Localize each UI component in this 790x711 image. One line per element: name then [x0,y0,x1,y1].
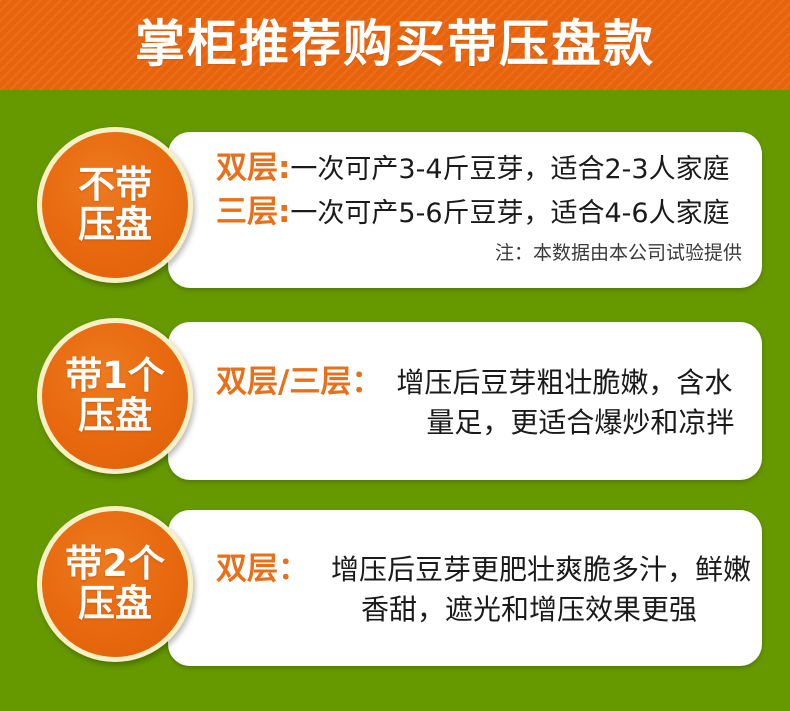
spec-row: 双层: 一次可产3-4斤豆芽，适合2-3人家庭 [216,146,742,190]
spec-text-line-2: 香甜，遮光和增压效果更强 [331,590,751,630]
spec-row: 双层/三层： 增压后豆芽粗壮脆嫩，含水 量足，更适合爆炒和凉拌 [216,360,740,443]
badge-line-2: 压盘 [78,396,152,436]
header-banner: 掌柜推荐购买带压盘款 [0,0,790,90]
page-title: 掌柜推荐购买带压盘款 [135,19,655,72]
badge-line-2: 压盘 [78,205,152,245]
spec-text-triple-layer: 一次可产5-6斤豆芽，适合4-6人家庭 [290,195,729,233]
spec-text-block: 增压后豆芽粗壮脆嫩，含水 量足，更适合爆炒和凉拌 [396,363,734,443]
card-content: 双层: 一次可产3-4斤豆芽，适合2-3人家庭 三层: 一次可产5-6斤豆芽，适… [216,132,742,288]
spec-text-line-1: 增压后豆芽粗壮脆嫩，含水 [396,363,734,403]
spec-row: 双层： 增压后豆芽更肥壮爽脆多汁，鲜嫩 香甜，遮光和增压效果更强 [216,547,740,630]
spec-text-line-2: 量足，更适合爆炒和凉拌 [396,403,734,443]
spec-text-double-layer: 一次可产3-4斤豆芽，适合2-3人家庭 [290,151,729,189]
spec-label-triple-layer: 三层: [216,190,290,234]
badge-line-2: 压盘 [78,584,152,624]
badge-one-press-plate: 带1个 压盘 [37,318,193,474]
badge-line-1: 不带 [78,165,152,205]
spec-text-block: 增压后豆芽更肥壮爽脆多汁，鲜嫩 香甜，遮光和增压效果更强 [331,550,751,630]
data-source-note: 注：本数据由本公司试验提供 [216,238,742,265]
info-card-no-press-plate: 双层: 一次可产3-4斤豆芽，适合2-3人家庭 三层: 一次可产5-6斤豆芽，适… [168,132,762,288]
badge-line-1: 带1个 [65,356,165,396]
badge-two-press-plates: 带2个 压盘 [37,506,193,662]
card-content: 双层： 增压后豆芽更肥壮爽脆多汁，鲜嫩 香甜，遮光和增压效果更强 [216,510,740,666]
badge-line-1: 带2个 [65,544,165,584]
info-card-one-press-plate: 双层/三层： 增压后豆芽粗壮脆嫩，含水 量足，更适合爆炒和凉拌 [168,322,762,480]
spec-label-double-layer: 双层: [216,146,290,190]
spec-label-double-layer: 双层： [216,547,331,591]
spec-row: 三层: 一次可产5-6斤豆芽，适合4-6人家庭 [216,190,742,234]
card-content: 双层/三层： 增压后豆芽粗壮脆嫩，含水 量足，更适合爆炒和凉拌 [216,322,740,480]
spec-label-double-triple-layer: 双层/三层： [216,360,396,404]
badge-no-press-plate: 不带 压盘 [37,127,193,283]
info-card-two-press-plates: 双层： 增压后豆芽更肥壮爽脆多汁，鲜嫩 香甜，遮光和增压效果更强 [168,510,762,666]
spec-text-line-1: 增压后豆芽更肥壮爽脆多汁，鲜嫩 [331,550,751,590]
